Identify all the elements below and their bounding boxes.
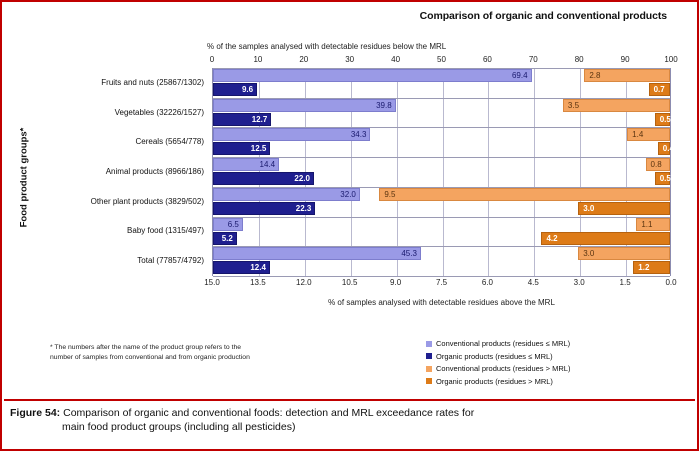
bottom-tick: 7.5 — [436, 278, 447, 287]
bottom-tick: 9.0 — [390, 278, 401, 287]
bar-value-label: 12.5 — [251, 145, 267, 153]
bottom-tick: 1.5 — [620, 278, 631, 287]
bar-value-label: 12.7 — [252, 116, 268, 124]
table-row: 14.422.00.80.5 — [213, 157, 670, 187]
table-row: 34.312.51.40.4 — [213, 127, 670, 157]
bar-ca[interactable]: 3.5 — [563, 99, 670, 112]
top-tick: 30 — [345, 55, 354, 64]
bar-ob[interactable]: 12.5 — [213, 142, 270, 155]
chart-legend: Conventional products (residues ≤ MRL)Or… — [426, 339, 570, 389]
figure-caption: Figure 54: Comparison of organic and con… — [10, 406, 685, 434]
bar-ca[interactable]: 1.1 — [636, 218, 670, 231]
bottom-tick: 0.0 — [665, 278, 676, 287]
bar-value-label: 34.3 — [351, 131, 367, 139]
bar-ob[interactable]: 5.2 — [213, 232, 237, 245]
top-tick: 10 — [253, 55, 262, 64]
bar-value-label: 69.4 — [512, 72, 528, 80]
legend-label: Conventional products (residues ≤ MRL) — [436, 339, 570, 348]
bar-value-label: 0.5 — [660, 116, 671, 124]
category-label: Animal products (8966/186) — [106, 167, 204, 176]
bar-cb[interactable]: 32.0 — [213, 188, 360, 201]
bar-cb[interactable]: 39.8 — [213, 99, 396, 112]
bar-value-label: 3.0 — [583, 250, 594, 258]
bar-ob[interactable]: 22.0 — [213, 172, 314, 185]
bar-oa[interactable]: 4.2 — [541, 232, 670, 245]
bar-value-label: 22.3 — [296, 205, 312, 213]
bar-value-label: 4.2 — [546, 235, 557, 243]
bar-cb[interactable]: 69.4 — [213, 69, 532, 82]
legend-organic-below[interactable]: Organic products (residues ≤ MRL) — [426, 352, 570, 361]
plot-area: 69.49.62.80.739.812.73.50.534.312.51.40.… — [212, 68, 671, 276]
legend-conventional-above[interactable]: Conventional products (residues > MRL) — [426, 364, 570, 373]
table-row: 69.49.62.80.7 — [213, 68, 670, 98]
top-tick: 90 — [621, 55, 630, 64]
top-tick: 40 — [391, 55, 400, 64]
top-tick: 0 — [210, 55, 214, 64]
top-tick: 60 — [483, 55, 492, 64]
bar-value-label: 39.8 — [376, 102, 392, 110]
category-label: Cereals (5654/778) — [136, 137, 204, 146]
bar-ob[interactable]: 22.3 — [213, 202, 315, 215]
top-tick: 70 — [529, 55, 538, 64]
bar-oa[interactable]: 3.0 — [578, 202, 670, 215]
bar-oa[interactable]: 0.7 — [649, 83, 670, 96]
bar-cb[interactable]: 34.3 — [213, 128, 370, 141]
bottom-tick: 10.5 — [342, 278, 358, 287]
category-label: Vegetables (32226/1527) — [115, 108, 204, 117]
bar-value-label: 32.0 — [340, 191, 356, 199]
caption-box: Figure 54: Comparison of organic and con… — [4, 399, 695, 447]
bottom-tick: 4.5 — [528, 278, 539, 287]
bar-value-label: 1.1 — [641, 221, 652, 229]
legend-label: Conventional products (residues > MRL) — [436, 364, 570, 373]
bar-value-label: 14.4 — [260, 161, 276, 169]
bar-value-label: 5.2 — [222, 235, 233, 243]
table-row: 45.312.43.01.2 — [213, 246, 670, 276]
legend-conventional-below[interactable]: Conventional products (residues ≤ MRL) — [426, 339, 570, 348]
bottom-tick: 13.5 — [250, 278, 266, 287]
gridline-horizontal — [213, 276, 670, 277]
legend-swatch — [426, 341, 432, 347]
caption-line1: Comparison of organic and conventional f… — [63, 407, 474, 419]
top-tick: 80 — [575, 55, 584, 64]
bar-value-label: 9.6 — [242, 86, 253, 94]
top-axis-label: % of the samples analysed with detectabl… — [207, 42, 446, 51]
y-axis-title: Food product groups* — [19, 98, 30, 258]
bar-value-label: 3.0 — [583, 205, 594, 213]
table-row: 6.55.21.14.2 — [213, 217, 670, 247]
top-axis-ticks: 0102030405060708090100 — [212, 55, 671, 67]
bar-value-label: 9.5 — [384, 191, 395, 199]
caption-line2: main food product groups (including all … — [10, 420, 685, 434]
figure-frame: Comparison of organic and conventional p… — [0, 0, 699, 451]
bottom-tick: 12.0 — [296, 278, 312, 287]
bar-value-label: 3.5 — [568, 102, 579, 110]
bar-oa[interactable]: 0.5 — [655, 113, 670, 126]
bar-oa[interactable]: 0.5 — [655, 172, 670, 185]
bar-rows: 69.49.62.80.739.812.73.50.534.312.51.40.… — [213, 68, 670, 276]
table-row: 32.022.39.53.0 — [213, 187, 670, 217]
bar-ca[interactable]: 3.0 — [578, 247, 670, 260]
legend-label: Organic products (residues > MRL) — [436, 377, 553, 386]
bar-value-label: 1.2 — [638, 264, 649, 272]
bottom-tick: 6.0 — [482, 278, 493, 287]
bar-ca[interactable]: 0.8 — [646, 158, 670, 171]
bottom-tick: 3.0 — [574, 278, 585, 287]
top-tick: 20 — [299, 55, 308, 64]
bar-value-label: 0.8 — [651, 161, 662, 169]
legend-organic-above[interactable]: Organic products (residues > MRL) — [426, 377, 570, 386]
bar-ca[interactable]: 9.5 — [379, 188, 670, 201]
legend-label: Organic products (residues ≤ MRL) — [436, 352, 553, 361]
bar-cb[interactable]: 45.3 — [213, 247, 421, 260]
legend-swatch — [426, 353, 432, 359]
bar-value-label: 1.4 — [632, 131, 643, 139]
bar-value-label: 0.5 — [660, 175, 671, 183]
bar-value-label: 2.8 — [589, 72, 600, 80]
bar-ob[interactable]: 12.7 — [213, 113, 271, 126]
bar-value-label: 45.3 — [401, 250, 417, 258]
bar-oa[interactable]: 1.2 — [633, 261, 670, 274]
bar-value-label: 12.4 — [250, 264, 266, 272]
legend-swatch — [426, 378, 432, 384]
top-tick: 50 — [437, 55, 446, 64]
bottom-axis-ticks: 15.013.512.010.59.07.56.04.53.01.50.0 — [212, 278, 671, 290]
category-label: Fruits and nuts (25867/1302) — [101, 78, 204, 87]
chart-title: Comparison of organic and conventional p… — [2, 10, 681, 22]
table-row: 39.812.73.50.5 — [213, 98, 670, 128]
bar-ob[interactable]: 9.6 — [213, 83, 257, 96]
category-label: Baby food (1315/497) — [127, 226, 204, 235]
legend-swatch — [426, 366, 432, 372]
bar-value-label: 22.0 — [294, 175, 310, 183]
category-label: Other plant products (3829/502) — [91, 197, 204, 206]
footnote: * The numbers after the name of the prod… — [50, 343, 250, 363]
bar-value-label: 0.4 — [663, 145, 674, 153]
bottom-axis-label: % of samples analysed with detectable re… — [212, 298, 671, 307]
bar-cb[interactable]: 6.5 — [213, 218, 243, 231]
top-tick: 100 — [664, 55, 677, 64]
bar-ca[interactable]: 2.8 — [584, 69, 670, 82]
bar-cb[interactable]: 14.4 — [213, 158, 279, 171]
bar-ca[interactable]: 1.4 — [627, 128, 670, 141]
bar-oa[interactable]: 0.4 — [658, 142, 670, 155]
bar-ob[interactable]: 12.4 — [213, 261, 270, 274]
bar-value-label: 6.5 — [228, 221, 239, 229]
caption-prefix: Figure 54: — [10, 407, 60, 419]
bar-value-label: 0.7 — [654, 86, 665, 94]
category-label: Total (77857/4792) — [137, 256, 204, 265]
category-labels: Fruits and nuts (25867/1302)Vegetables (… — [42, 68, 208, 276]
bottom-tick: 15.0 — [204, 278, 220, 287]
